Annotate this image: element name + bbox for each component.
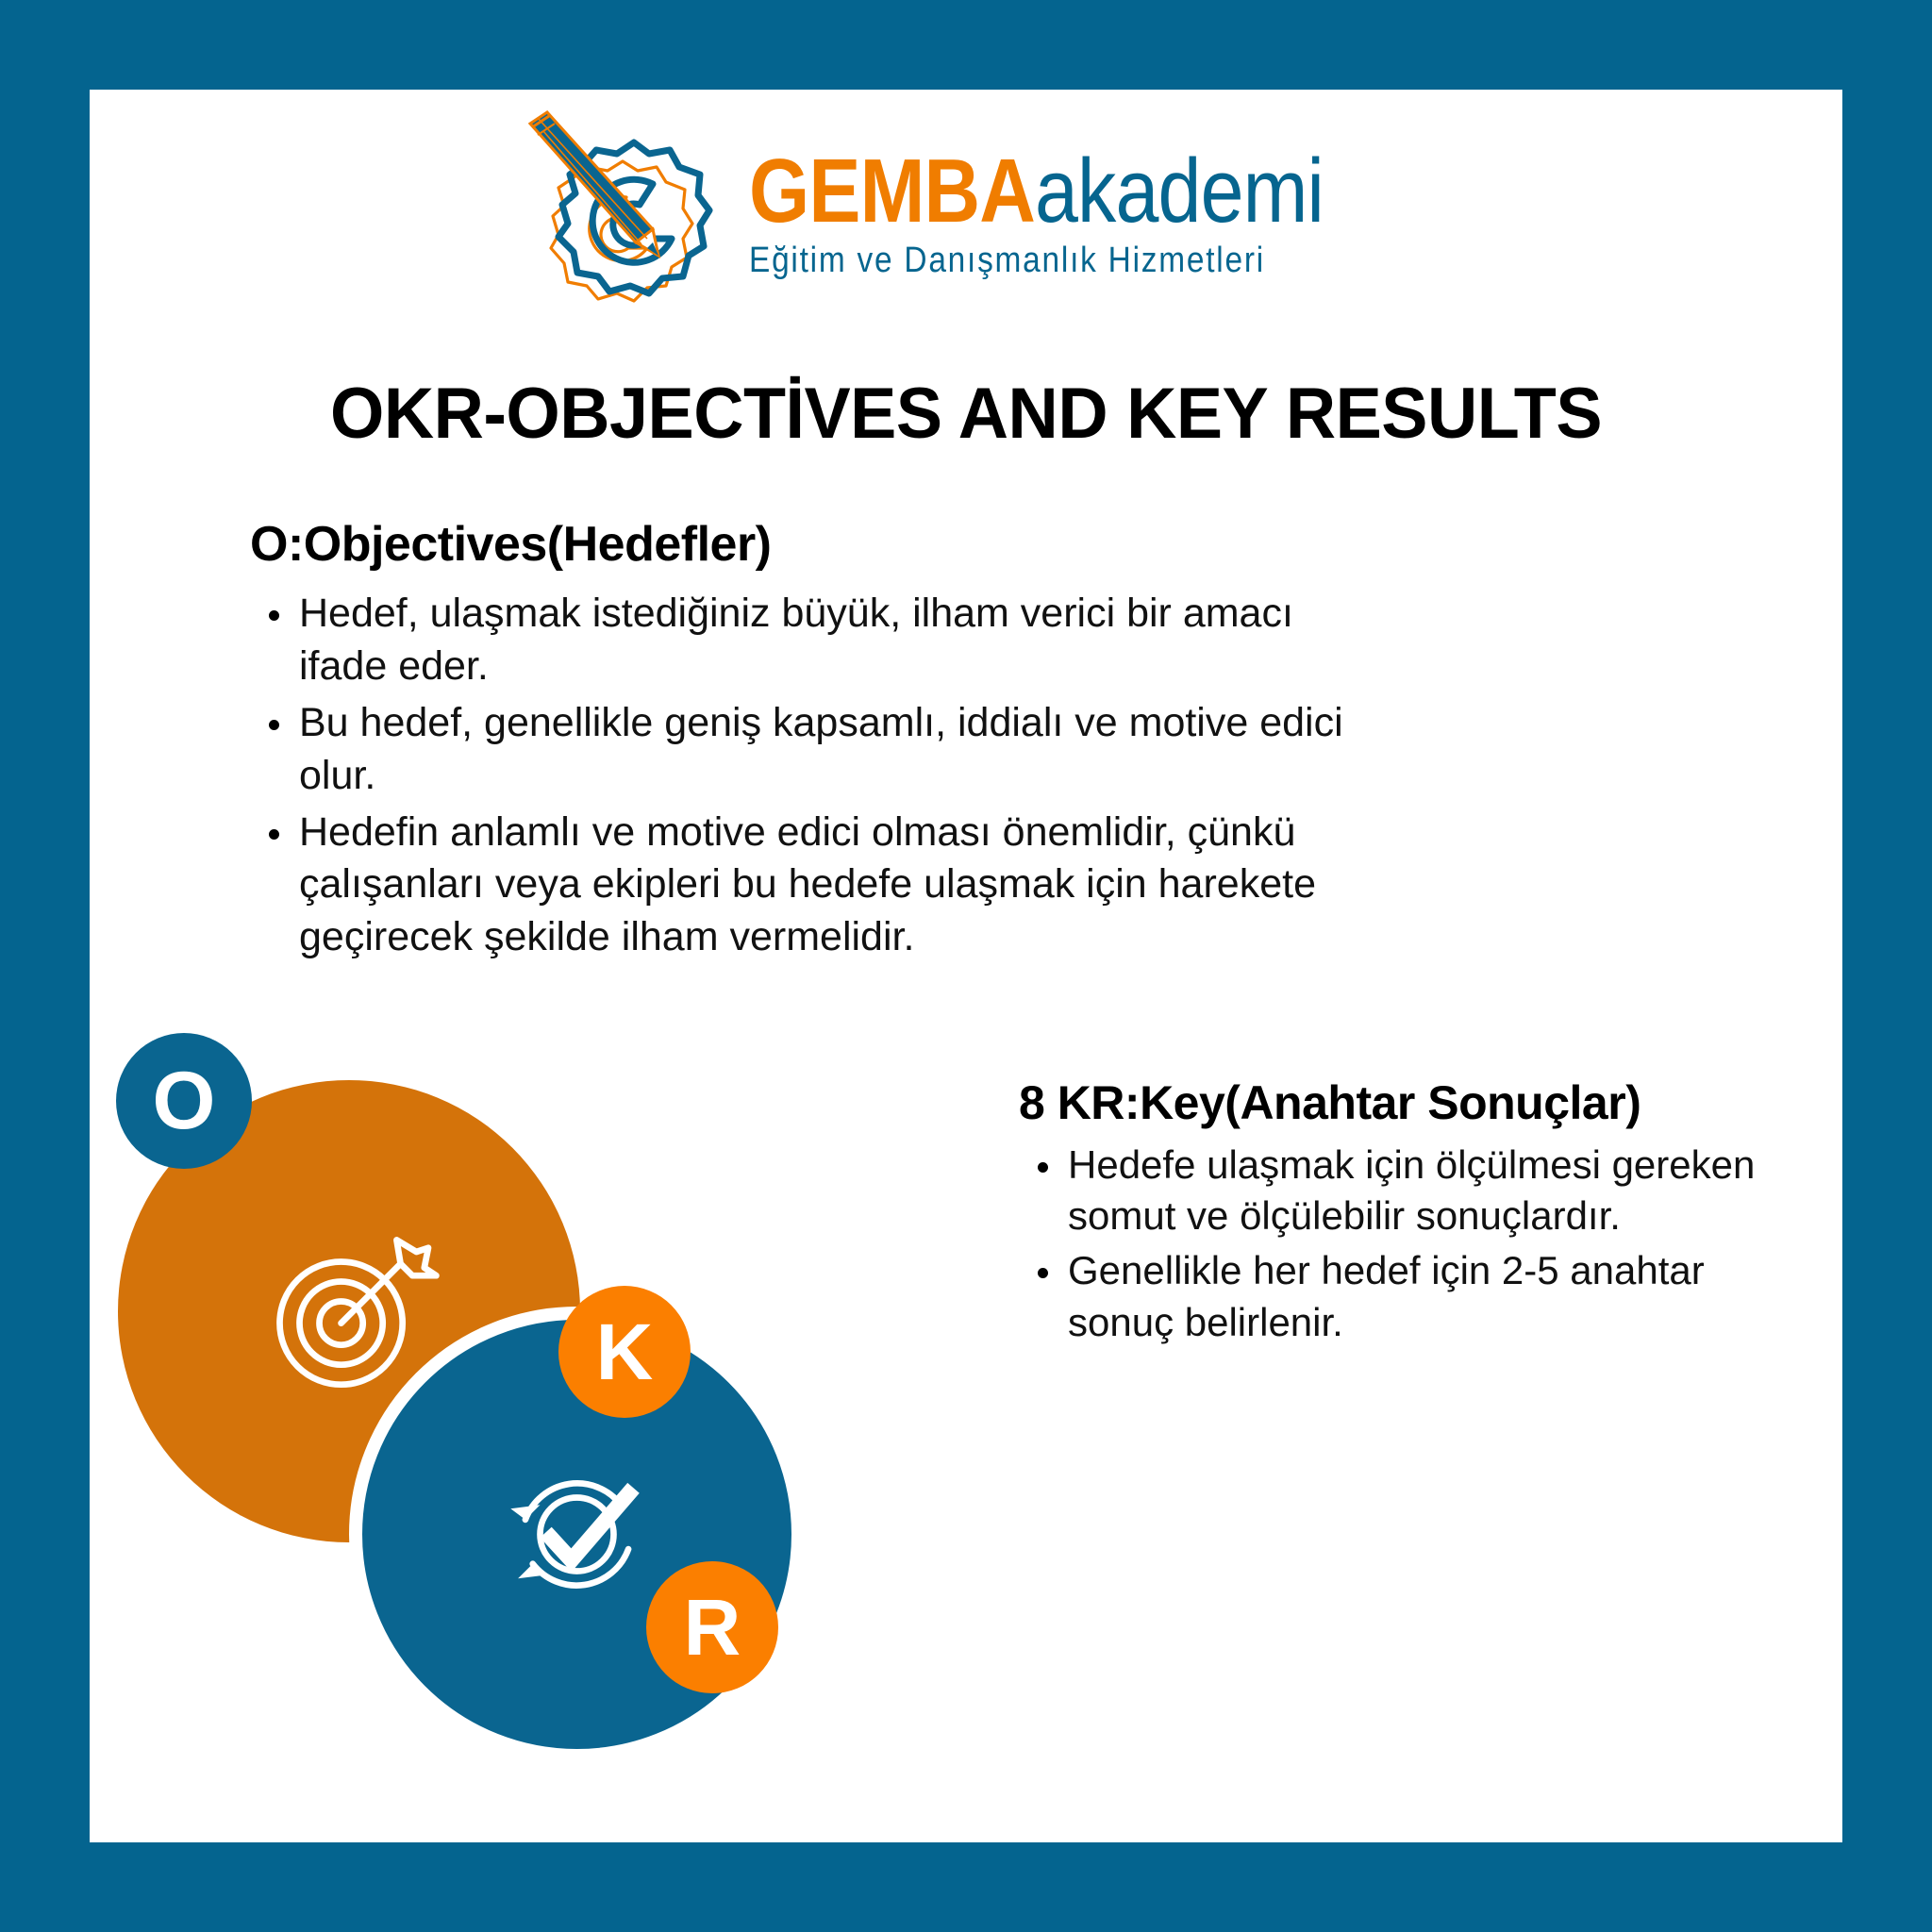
- logo-name-secondary: akademi: [1035, 141, 1324, 241]
- check-cycle-icon: [485, 1442, 669, 1626]
- badge-k: K: [558, 1286, 691, 1418]
- badge-o: O: [116, 1033, 252, 1169]
- key-results-bullet-list: Hedefe ulaşmak için ölçülmesi gereken so…: [1019, 1140, 1774, 1348]
- objectives-heading: O:Objectives(Hedefler): [250, 516, 1391, 573]
- page-title: OKR-OBJECTİVES AND KEY RESULTS: [116, 373, 1816, 455]
- objectives-section: O:Objectives(Hedefler) Hedef, ulaşmak is…: [250, 516, 1391, 968]
- gear-pencil-icon: [515, 107, 732, 309]
- list-item: Bu hedef, genellikle geniş kapsamlı, idd…: [299, 697, 1391, 803]
- poster-frame: GEMBAakademi Eğitim ve Danışmanlık Hizme…: [0, 0, 1932, 1932]
- badge-r: R: [646, 1561, 778, 1693]
- okr-circles-graphic: O K R: [99, 1033, 976, 1842]
- logo-tagline: Eğitim ve Danışmanlık Hizmetleri: [749, 241, 1265, 281]
- poster-canvas: GEMBAakademi Eğitim ve Danışmanlık Hizme…: [90, 90, 1842, 1842]
- list-item: Hedefe ulaşmak için ölçülmesi gereken so…: [1068, 1140, 1774, 1241]
- list-item: Hedef, ulaşmak istediğiniz büyük, ilham …: [299, 588, 1391, 693]
- objectives-bullet-list: Hedef, ulaşmak istediğiniz büyük, ilham …: [250, 588, 1391, 964]
- key-results-heading: 8 KR:Key(Anahtar Sonuçlar): [1019, 1075, 1774, 1130]
- logo-wordmark: GEMBAakademi Eğitim ve Danışmanlık Hizme…: [749, 150, 1417, 281]
- key-results-section: 8 KR:Key(Anahtar Sonuçlar) Hedefe ulaşma…: [1019, 1075, 1774, 1352]
- list-item: Hedefin anlamlı ve motive edici olması ö…: [299, 807, 1391, 965]
- list-item: Genellikle her hedef için 2-5 anahtar so…: [1068, 1245, 1774, 1347]
- logo-name: GEMBAakademi: [749, 150, 1324, 233]
- logo-name-primary: GEMBA: [749, 141, 1035, 241]
- brand-logo: GEMBAakademi Eğitim ve Danışmanlık Hizme…: [90, 107, 1842, 309]
